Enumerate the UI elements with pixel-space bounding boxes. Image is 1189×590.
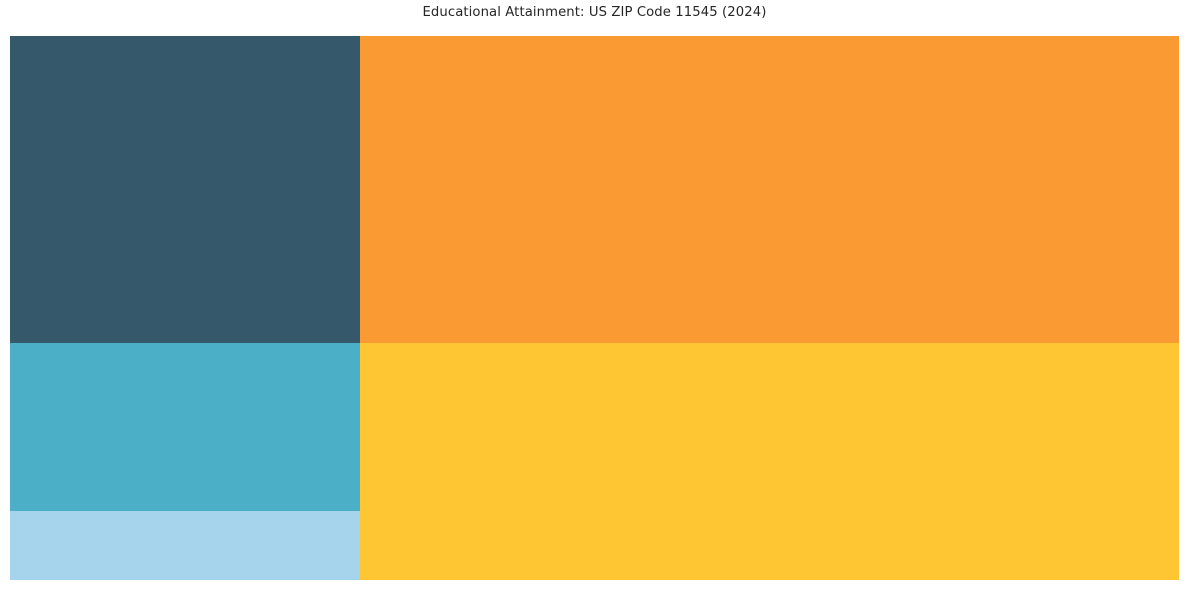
treemap-figure: Educational Attainment: US ZIP Code 1154… (0, 0, 1189, 590)
treemap-plot-area: Bachelor's degree Graduate or profession… (10, 36, 1179, 580)
treemap-tile-some-college[interactable]: Some college or associate's degree (10, 36, 360, 343)
treemap-tile-less-than-high-school[interactable]: Less than high school (10, 511, 360, 580)
treemap-tile-bachelors[interactable]: Bachelor's degree (360, 36, 1179, 343)
chart-title: Educational Attainment: US ZIP Code 1154… (0, 5, 1189, 21)
treemap-tile-graduate-professional[interactable]: Graduate or professional degree (360, 343, 1179, 580)
treemap-tile-high-school-graduate[interactable]: High school graduate (10, 343, 360, 511)
